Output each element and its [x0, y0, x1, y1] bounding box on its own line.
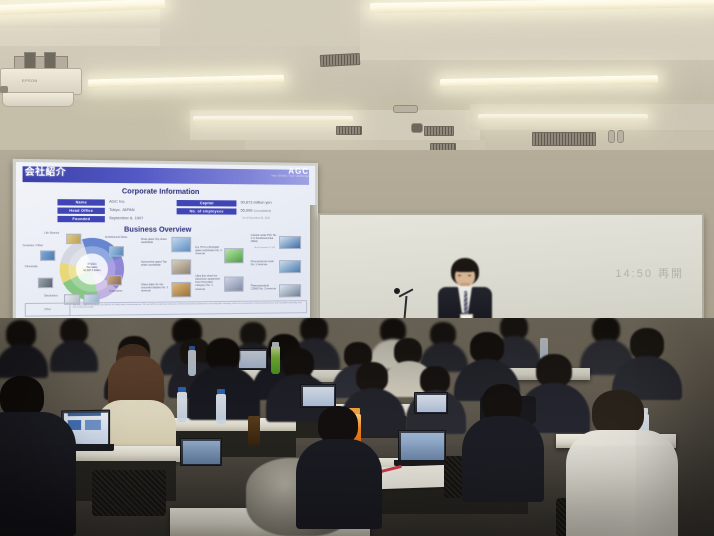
- laptop-screen: [180, 438, 222, 466]
- laptop-display: [417, 395, 446, 412]
- laptop-content-block: [85, 420, 101, 430]
- projection-screen: 会社紹介 AGC Your Global, Your Challenge Cor…: [13, 159, 318, 324]
- employees-number: 55,999: [241, 209, 253, 213]
- bottle-cap: [189, 346, 195, 350]
- row-value-capital: 90,873 million yen: [241, 200, 272, 204]
- bottle-cap: [178, 387, 186, 392]
- laptop-display: [401, 433, 444, 460]
- laptop-screen: [398, 430, 446, 462]
- ceiling-light-strip: [478, 114, 648, 120]
- laptop-display: [303, 387, 334, 406]
- employees-note: (Consolidated): [253, 210, 271, 213]
- business-item-thumb: [171, 282, 191, 298]
- laptop-display: [239, 351, 266, 368]
- laptop-display: [183, 441, 220, 464]
- business-item-thumb: [224, 248, 243, 263]
- presentation-slide: 会社紹介 AGC Your Global, Your Challenge Cor…: [16, 162, 315, 321]
- bottle-cap: [272, 342, 279, 347]
- shoulders: [462, 416, 544, 502]
- row-value-employees: 55,999 (Consolidated): [241, 209, 272, 213]
- agc-logo: AGC Your Global, Your Challenge: [271, 166, 309, 178]
- audience-area: [0, 318, 714, 536]
- ceiling-speaker: [411, 123, 423, 133]
- air-vent: [336, 126, 362, 135]
- business-item-thumb: [279, 236, 301, 249]
- ceiling-projector: [0, 68, 82, 95]
- dark-bottle: [248, 416, 260, 446]
- whiteboard-handwriting: 14:50 再開: [615, 265, 684, 281]
- row-label-name: Name: [57, 199, 104, 206]
- chair: [92, 470, 166, 516]
- disclaimer-text: The text called for business use before …: [70, 301, 306, 315]
- business-item-text: Ultra-thin sheet for electronic equipmen…: [195, 275, 222, 291]
- agc-logo-tagline: Your Global, Your Challenge: [271, 174, 309, 177]
- water-bottle: [177, 392, 187, 422]
- row-value-name: AGC Inc.: [109, 200, 125, 204]
- slide-footnote: As of December 31, 2021: [255, 247, 276, 249]
- bottle-cap: [217, 389, 225, 394]
- donut-thumb: [40, 250, 55, 261]
- business-item-text: Float glass Top share worldwide: [141, 238, 168, 245]
- business-item-thumb: [279, 260, 301, 273]
- row-value-head-office: Tokyo, JAPAN: [109, 208, 134, 212]
- business-item-text: For TFT-LCD/OLED glass substrates No. 2 …: [195, 246, 222, 256]
- business-overview-heading: Business Overview: [124, 227, 191, 234]
- lecture-hall-photo: EPSON 会社紹介 AGC Your Global, Your Challen…: [0, 0, 714, 536]
- business-item-text: Pharmaceutical CDMO No. 2 revenue: [251, 284, 277, 291]
- row-label-head-office: Head Office: [57, 208, 104, 214]
- water-bottle: [216, 394, 226, 424]
- shoulders: [296, 439, 382, 529]
- ceiling-speaker: [608, 130, 615, 143]
- ceiling-speaker: [617, 130, 624, 143]
- ceiling-light-strip: [88, 75, 284, 88]
- laptop-screen: [236, 348, 268, 370]
- projector-brand-label: EPSON: [22, 78, 38, 83]
- donut-thumb: [107, 275, 122, 285]
- laptop-screen: [300, 384, 336, 408]
- business-item-thumb: [171, 259, 191, 274]
- ceiling-light-strip: [440, 75, 658, 87]
- water-bottle: [188, 350, 196, 376]
- presenter-fringe: [453, 264, 477, 272]
- business-item-thumb: [224, 276, 243, 291]
- whiteboard: 14:50 再開: [318, 213, 704, 335]
- donut-segment-label: Ceramics / Other: [23, 244, 51, 247]
- screen-wall-edge: [310, 205, 317, 333]
- ceiling-projector: [2, 92, 74, 107]
- donut-thumb: [38, 278, 53, 289]
- donut-center-label: FY2021Net sales¥1,697.4 billion: [60, 263, 124, 273]
- business-item-text: Caustic soda PVC No. 1 in Southeast Asia…: [251, 234, 277, 244]
- ceiling-light-strip: [193, 116, 353, 122]
- business-item-thumb: [279, 284, 301, 297]
- ceiling-speaker: [393, 105, 418, 113]
- as-of-note: As of December 31, 2021: [243, 217, 271, 220]
- air-vent: [532, 132, 596, 146]
- donut-thumb: [66, 234, 81, 244]
- slide-title: 会社紹介: [25, 164, 66, 178]
- laptop-screen: [414, 392, 448, 414]
- disclaimer-label: Other: [26, 304, 71, 316]
- laptop-content-header: [68, 413, 101, 416]
- row-label-founded: Founded: [57, 216, 104, 222]
- donut-segment-label: Automotive: [109, 289, 137, 292]
- business-item-thumb: [171, 237, 191, 252]
- row-label-employees: No. of employees: [177, 208, 237, 214]
- air-vent: [320, 53, 361, 67]
- business-item-text: Fluoropolymer resin No. 1 revenue: [251, 260, 277, 266]
- corporate-information-heading: Corporate Information: [122, 188, 199, 196]
- business-item-text: Automotive glass Top share worldwide: [141, 260, 168, 267]
- slide-disclaimer: Other The text called for business use b…: [25, 300, 307, 317]
- donut-segment-label: Chemicals: [25, 265, 53, 268]
- podium-microphone: [394, 288, 400, 294]
- ceiling: EPSON: [0, 0, 714, 172]
- business-item-text: Glass plate for car-mounted display No. …: [141, 283, 168, 293]
- donut-thumb: [109, 246, 124, 256]
- donut-segment-label: Architectural Glass: [105, 236, 133, 239]
- shoulders: [0, 412, 76, 536]
- row-value-founded: September 8, 1907: [109, 216, 143, 220]
- shoulders-white-shirt: [566, 430, 678, 536]
- green-tea-bottle: [271, 346, 280, 374]
- row-label-capital: Capital: [177, 200, 237, 207]
- projector-lens: [0, 86, 8, 93]
- air-vent: [424, 126, 454, 136]
